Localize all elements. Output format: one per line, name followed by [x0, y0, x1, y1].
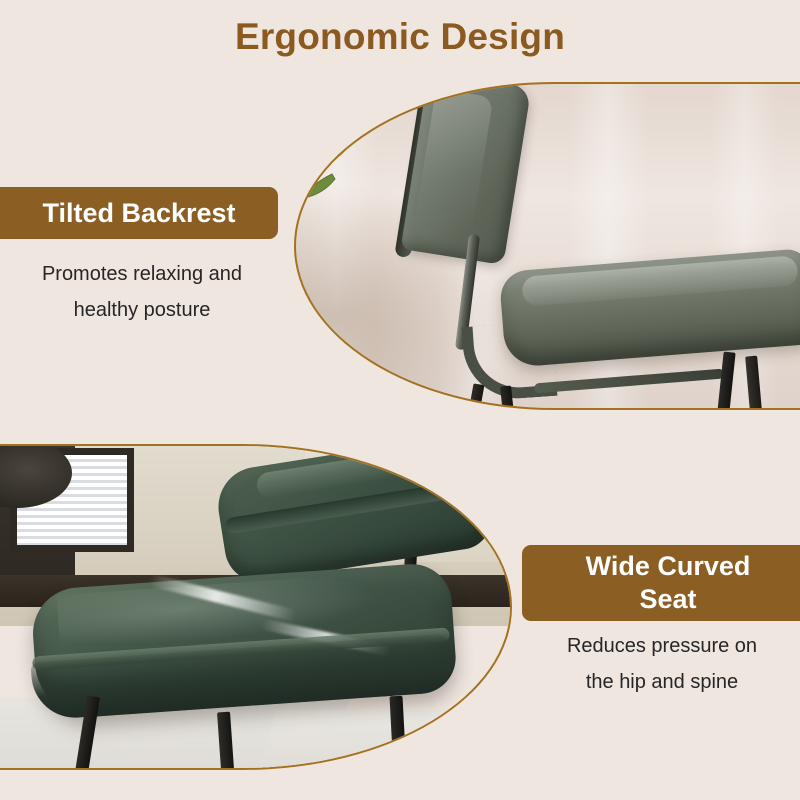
- area-rug: [252, 710, 481, 770]
- feature-description-line: Reduces pressure on: [524, 628, 800, 664]
- feature-description-tilted-backrest: Promotes relaxing and healthy posture: [4, 256, 280, 328]
- feature-description-wide-curved-seat: Reduces pressure on the hip and spine: [524, 628, 800, 700]
- feature-badge-label-line: Seat: [639, 583, 696, 616]
- feature-description-line: Promotes relaxing and: [4, 256, 280, 292]
- feature-description-line: healthy posture: [4, 292, 280, 328]
- tilted-backrest-photo: [294, 82, 800, 410]
- marketing-infographic: Ergonomic Design: [0, 0, 800, 800]
- photo-top-scene: [296, 84, 800, 408]
- feature-badge-tilted-backrest: Tilted Backrest: [0, 187, 278, 239]
- feature-badge-label-line: Wide Curved: [586, 550, 751, 583]
- feature-badge-wide-curved-seat: Wide Curved Seat: [522, 545, 800, 621]
- feature-badge-label: Tilted Backrest: [42, 198, 235, 229]
- page-title: Ergonomic Design: [0, 14, 800, 60]
- wide-curved-seat-photo: [0, 444, 512, 770]
- photo-bottom-scene: [0, 446, 510, 768]
- feature-description-line: the hip and spine: [524, 664, 800, 700]
